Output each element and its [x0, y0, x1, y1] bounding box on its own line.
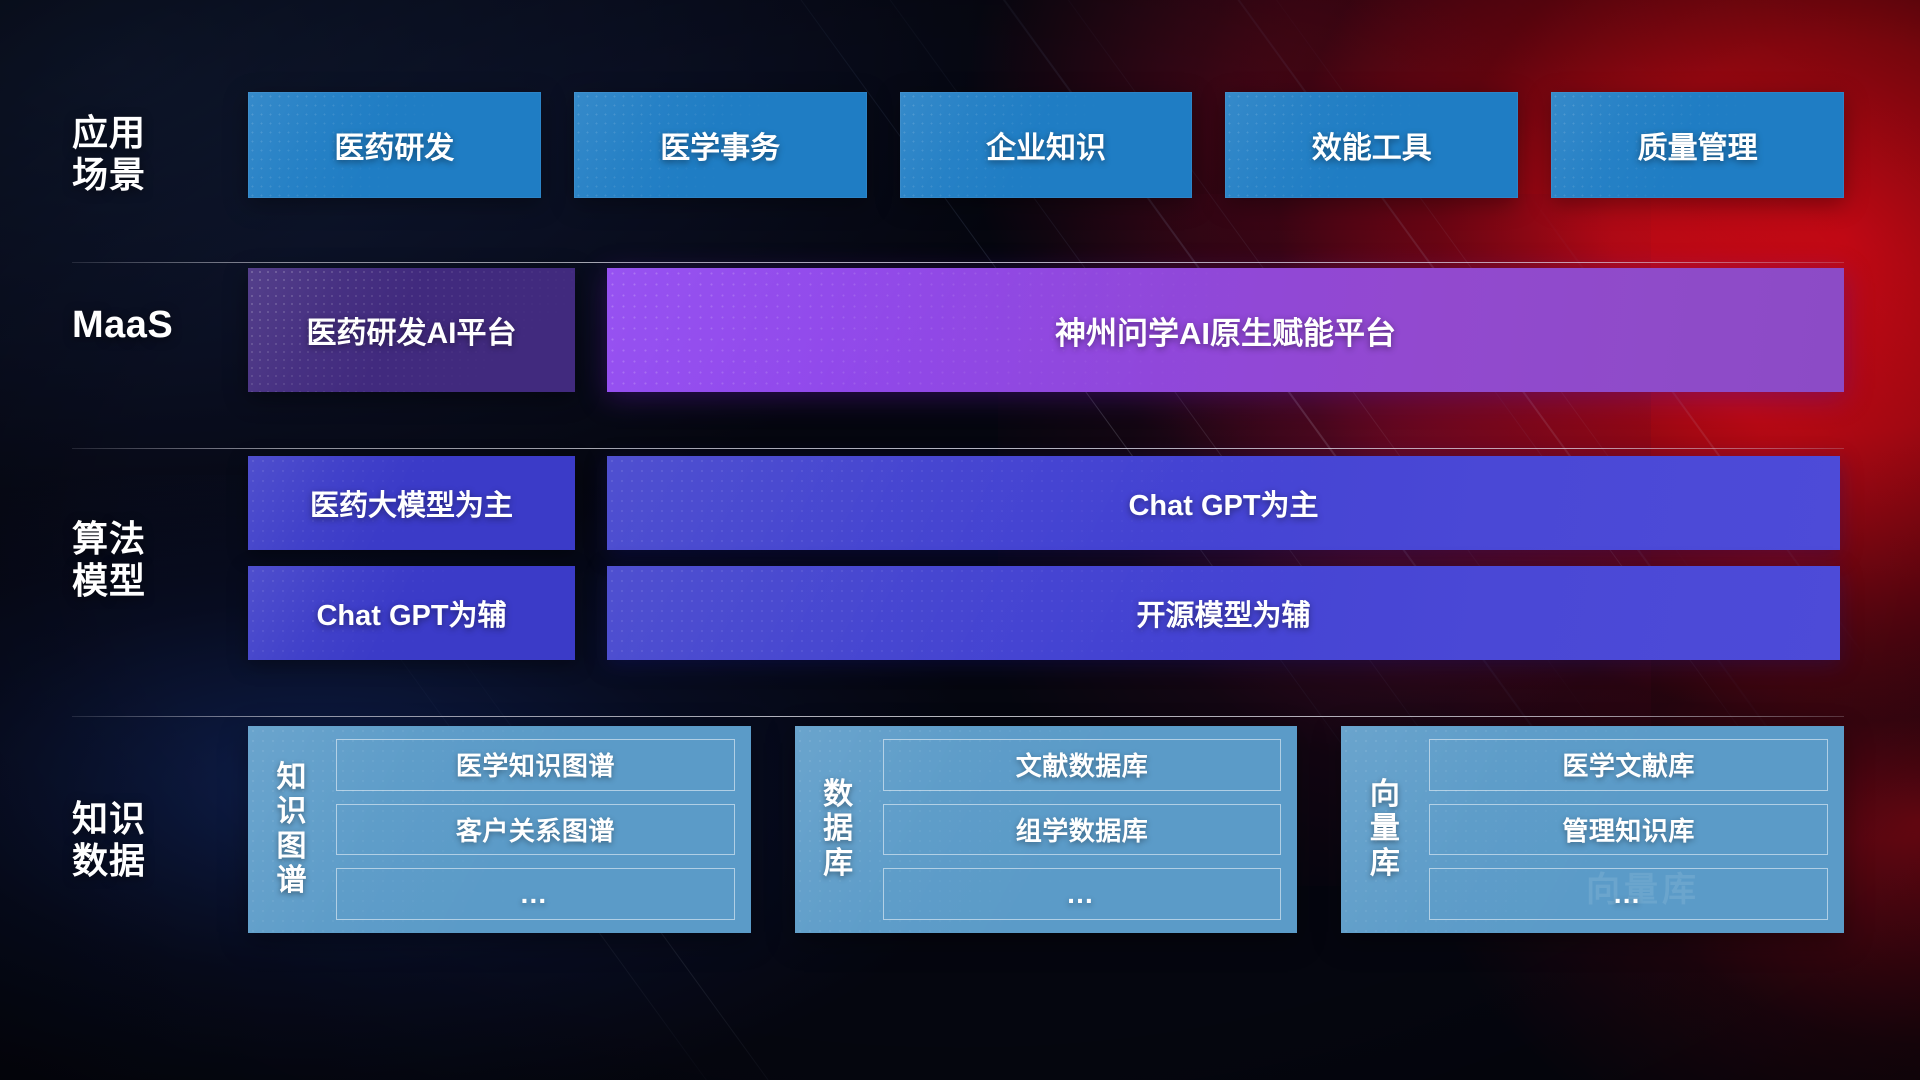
scenario-card-label: 效能工具: [1312, 123, 1432, 167]
knowledge-item[interactable]: 医学知识图谱: [336, 739, 735, 791]
scenario-card-label: 质量管理: [1638, 123, 1758, 167]
scenario-card-enterprise-knowledge[interactable]: 企业知识: [900, 92, 1193, 198]
algo-card-label: Chat GPT为辅: [316, 592, 506, 634]
row-label-knowledge-data: 知识 数据: [72, 798, 242, 882]
scenario-card-pharma-rnd[interactable]: 医药研发: [248, 92, 541, 198]
row-label-algorithm-model: 算法 模型: [72, 518, 242, 602]
scenario-card-efficiency-tools[interactable]: 效能工具: [1225, 92, 1518, 198]
knowledge-item[interactable]: 组学数据库: [883, 804, 1282, 856]
algorithm-secondary-line: Chat GPT为辅 开源模型为辅: [248, 566, 1840, 660]
maas-card-pharma-ai-platform[interactable]: 医药研发AI平台: [248, 268, 575, 392]
algo-card-chatgpt-primary[interactable]: Chat GPT为主: [607, 456, 1840, 550]
knowledge-item-more[interactable]: …: [336, 868, 735, 920]
knowledge-item-list: 文献数据库 组学数据库 …: [869, 739, 1282, 920]
knowledge-group-vector-store[interactable]: 向 量 库 医学文献库 管理知识库 …: [1341, 726, 1844, 933]
algorithm-card-band: 医药大模型为主 Chat GPT为主 Chat GPT为辅: [248, 456, 1920, 660]
maas-card-label: 医药研发AI平台: [307, 308, 517, 352]
algo-card-label: 开源模型为辅: [1136, 592, 1310, 634]
scenario-card-band: 医药研发 医学事务 企业知识 效能工具: [248, 92, 1920, 198]
divider-algo-knowledge: [72, 716, 1844, 717]
knowledge-item[interactable]: 文献数据库: [883, 739, 1282, 791]
architecture-diagram: 应用 场景 医药研发 医学事务 企业知识: [0, 0, 1920, 1080]
knowledge-group-vertical-label: 向 量 库: [1355, 739, 1415, 920]
row-maas: MaaS 医药研发AI平台 神州问学AI原生赋能平台: [0, 268, 1920, 428]
maas-card-shenzhou-wenxue-platform[interactable]: 神州问学AI原生赋能平台: [607, 268, 1844, 392]
knowledge-group-database[interactable]: 数 据 库 文献数据库 组学数据库 …: [795, 726, 1298, 933]
row-knowledge-data: 知识 数据 知 识 图 谱 医学知识图谱 客户关系图谱 …: [0, 726, 1920, 976]
knowledge-group-knowledge-graph[interactable]: 知 识 图 谱 医学知识图谱 客户关系图谱 …: [248, 726, 751, 933]
scenario-card-label: 医药研发: [334, 123, 454, 167]
row-application-scenarios: 应用 场景 医药研发 医学事务 企业知识: [0, 92, 1920, 244]
algorithm-primary-line: 医药大模型为主 Chat GPT为主: [248, 456, 1840, 550]
row-label-maas: MaaS: [72, 303, 242, 347]
maas-card-band: 医药研发AI平台 神州问学AI原生赋能平台: [248, 268, 1920, 392]
knowledge-item[interactable]: 医学文献库: [1429, 739, 1828, 791]
divider-scene-maas: [72, 262, 1844, 263]
row-label-application-scenarios: 应用 场景: [72, 112, 242, 196]
scenario-card-quality-management[interactable]: 质量管理: [1551, 92, 1844, 198]
slide-canvas: 应用 场景 医药研发 医学事务 企业知识: [0, 0, 1920, 1080]
knowledge-item-list: 医学文献库 管理知识库 …: [1415, 739, 1828, 920]
divider-maas-algo: [72, 448, 1844, 449]
knowledge-item-more[interactable]: …: [883, 868, 1282, 920]
algo-card-chatgpt-secondary[interactable]: Chat GPT为辅: [248, 566, 575, 660]
knowledge-item-list: 医学知识图谱 客户关系图谱 …: [322, 739, 735, 920]
knowledge-group-band: 知 识 图 谱 医学知识图谱 客户关系图谱 … 数 据 库 文献数据库 组学数据…: [248, 726, 1920, 933]
knowledge-item-more[interactable]: …: [1429, 868, 1828, 920]
algo-card-opensource-secondary[interactable]: 开源模型为辅: [607, 566, 1840, 660]
knowledge-group-vertical-label: 知 识 图 谱: [262, 739, 322, 920]
scenario-card-label: 医学事务: [660, 123, 780, 167]
knowledge-group-vertical-label: 数 据 库: [809, 739, 869, 920]
scenario-card-medical-affairs[interactable]: 医学事务: [574, 92, 867, 198]
knowledge-item[interactable]: 客户关系图谱: [336, 804, 735, 856]
algo-card-pharma-llm-primary[interactable]: 医药大模型为主: [248, 456, 575, 550]
algo-card-label: 医药大模型为主: [310, 482, 513, 524]
algo-card-label: Chat GPT为主: [1128, 482, 1318, 524]
row-algorithm-model: 算法 模型 医药大模型为主 Chat GPT为主: [0, 456, 1920, 706]
knowledge-item[interactable]: 管理知识库: [1429, 804, 1828, 856]
maas-card-label: 神州问学AI原生赋能平台: [1055, 308, 1396, 353]
scenario-card-label: 企业知识: [986, 123, 1106, 167]
